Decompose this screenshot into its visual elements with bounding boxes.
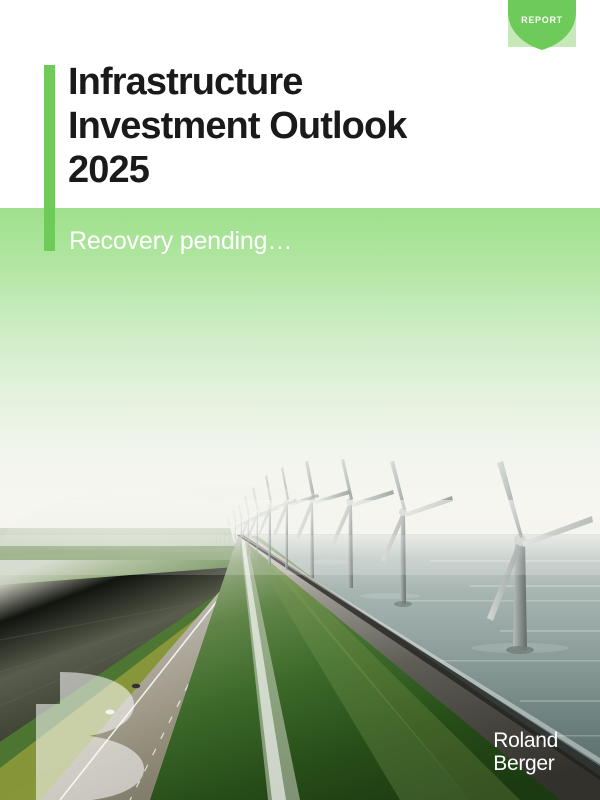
report-badge: REPORT	[508, 0, 576, 50]
title-line-3: 2025	[68, 148, 498, 192]
report-badge-label: REPORT	[508, 15, 576, 25]
title-line-2: Investment Outlook	[68, 104, 498, 148]
page-subtitle: Recovery pending…	[69, 226, 292, 256]
page-title: Infrastructure Investment Outlook 2025	[68, 60, 498, 192]
logo-line-2: Berger	[493, 752, 558, 775]
report-cover: REPORT Infrastructure Investment Outlook…	[0, 0, 600, 800]
title-line-1: Infrastructure	[68, 60, 498, 104]
badge-shield-icon	[508, 0, 576, 50]
logo-line-1: Roland	[493, 729, 558, 752]
roland-berger-logo: Roland Berger	[493, 729, 558, 775]
green-accent-bar	[44, 65, 55, 251]
